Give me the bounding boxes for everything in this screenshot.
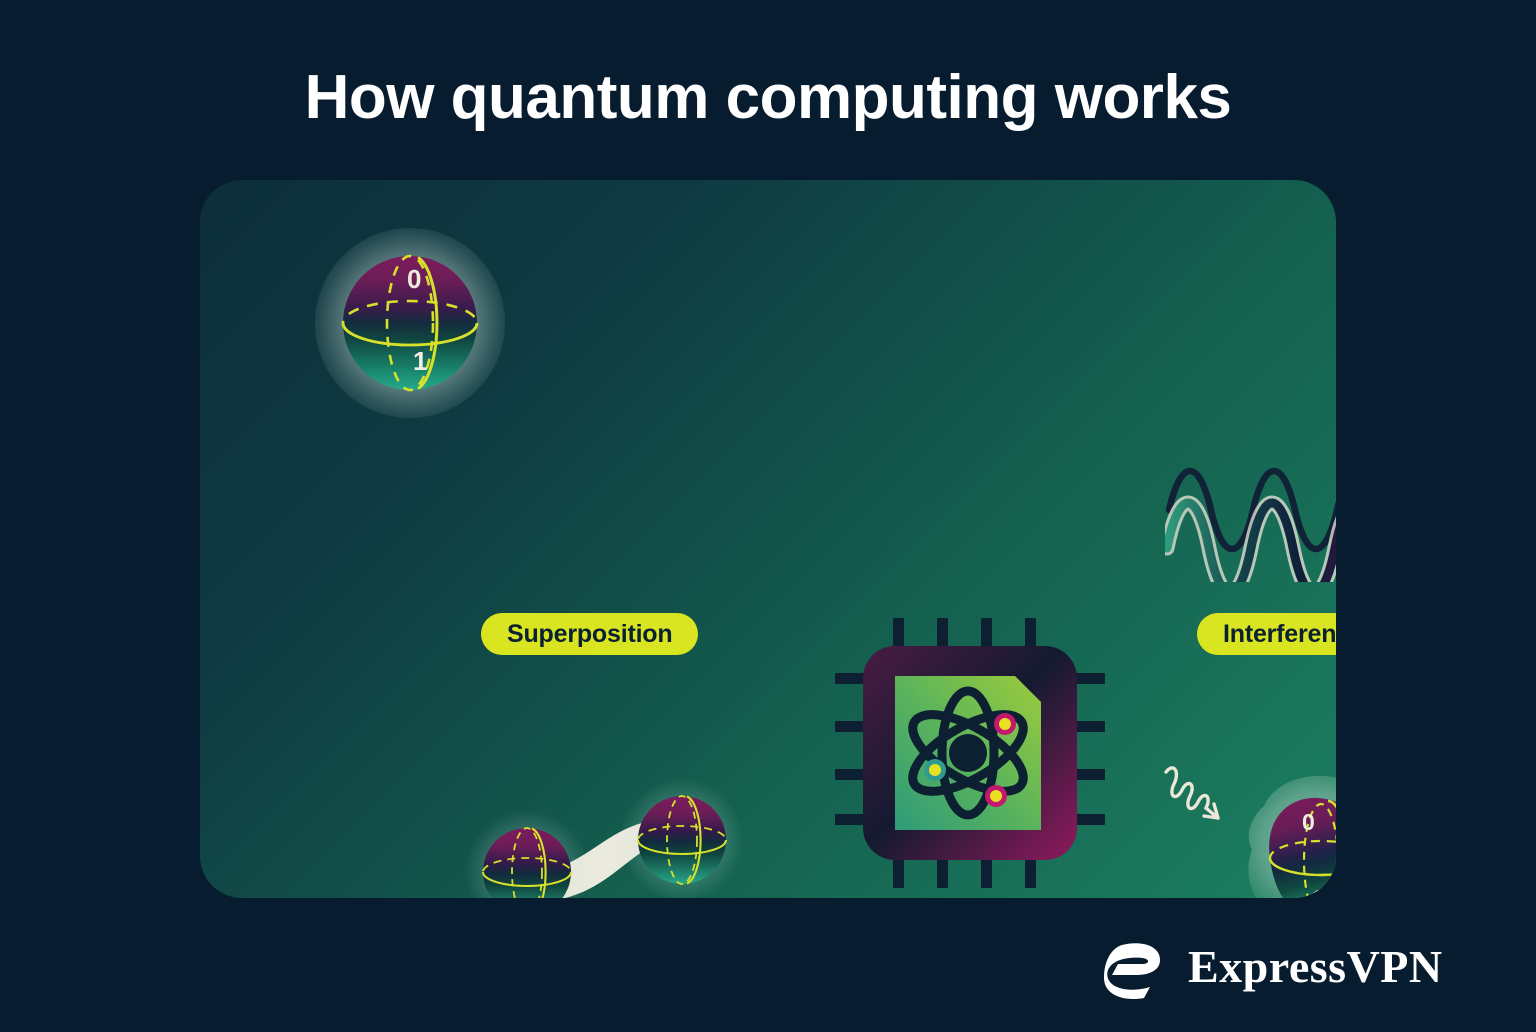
quantum-chip-icon <box>825 608 1115 898</box>
noise-arrow-top-left <box>1166 768 1218 818</box>
atom-nucleus <box>949 734 987 772</box>
page-title: How quantum computing works <box>0 62 1536 133</box>
badge-interference[interactable]: Interference <box>1197 613 1336 655</box>
expressvpn-e-logo <box>1098 930 1170 1002</box>
decohering-sphere-icon: 0 1 <box>1152 758 1336 898</box>
brand-logo: ExpressVPN <box>1098 930 1443 1002</box>
sphere-label-one: 1 <box>413 346 427 377</box>
sphere-meridians <box>315 228 505 418</box>
brand-name: ExpressVPN <box>1188 940 1443 993</box>
decoherence-label-zero: 0 <box>1302 809 1315 835</box>
decoherence-label-one: 1 <box>1312 885 1325 898</box>
interference-waves-icon <box>1165 452 1336 582</box>
badge-superposition[interactable]: Superposition <box>481 613 698 655</box>
entangled-spheres-icon <box>452 762 772 898</box>
content-card: 0 1 <box>200 180 1336 898</box>
bloch-sphere-icon: 0 1 <box>315 228 505 418</box>
sphere-label-zero: 0 <box>407 264 421 295</box>
sphere-right-body <box>638 796 726 884</box>
infographic-canvas: How quantum computing works 0 1 <box>0 0 1536 1032</box>
